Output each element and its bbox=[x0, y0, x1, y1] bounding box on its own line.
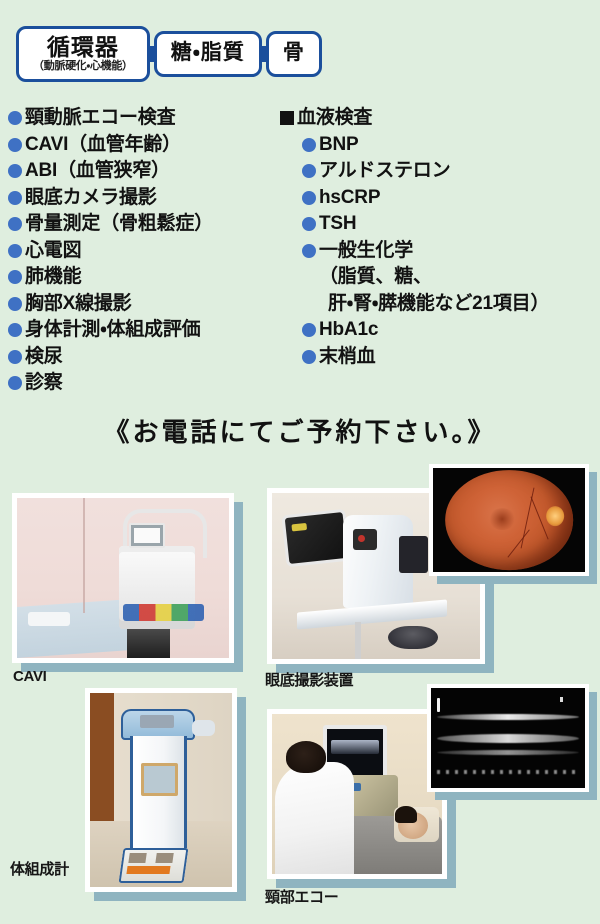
list-item: TSH bbox=[302, 214, 590, 233]
bullet-circle-icon bbox=[302, 217, 316, 231]
list-item-label: 末梢血 bbox=[319, 347, 375, 366]
exam-lists: 頸動脈エコー検査 CAVI（血管年齢） ABI（血管狭窄） 眼底カメラ撮影 骨量… bbox=[8, 108, 592, 400]
tab-sugar-lipid-label: 糖・脂質 bbox=[171, 42, 245, 64]
list-item-label: ABI（血管狭窄） bbox=[25, 161, 170, 180]
bullet-circle-icon bbox=[8, 191, 22, 205]
list-item-label: 骨量測定（骨粗鬆症） bbox=[25, 214, 213, 233]
bullet-circle-icon bbox=[8, 270, 22, 284]
bullet-circle-icon bbox=[302, 191, 316, 205]
fundus-monitor bbox=[284, 512, 347, 564]
ultrasound-depth-marker bbox=[560, 697, 563, 702]
left-exam-column: 頸動脈エコー検査 CAVI（血管年齢） ABI（血管狭窄） 眼底カメラ撮影 骨量… bbox=[8, 108, 280, 400]
body-composition-caption: 体組成計 bbox=[10, 858, 69, 879]
list-item: 身体計測・体組成評価 bbox=[8, 320, 280, 339]
ultrasound-scale-bar bbox=[437, 770, 579, 774]
cavi-caption: CAVI bbox=[13, 668, 47, 685]
fundus-chinrest bbox=[399, 536, 428, 573]
exam-bed-pillow bbox=[28, 612, 70, 626]
list-item-continuation: （脂質、糖、 bbox=[319, 267, 590, 286]
list-item: HbA1c bbox=[302, 320, 590, 339]
retina-scene bbox=[433, 468, 585, 572]
list-item-label: 頸動脈エコー検査 bbox=[25, 108, 175, 127]
bullet-circle-icon bbox=[8, 376, 22, 390]
carotid-echo-image bbox=[272, 714, 442, 874]
list-item-label: 検尿 bbox=[25, 347, 63, 366]
list-item: 検尿 bbox=[8, 347, 280, 366]
carotid-echo-scan-photo bbox=[427, 684, 589, 792]
list-item: CAVI（血管年齢） bbox=[8, 135, 280, 154]
cavi-machine-photo bbox=[12, 493, 234, 663]
ultrasound-depth-marker bbox=[437, 698, 440, 712]
list-item-label: 診察 bbox=[25, 373, 63, 392]
bullet-circle-icon bbox=[8, 297, 22, 311]
list-item-label: 一般生化学 bbox=[319, 241, 413, 260]
carotid-echo-photo bbox=[267, 709, 447, 879]
carotid-echo-caption: 頸部エコー bbox=[265, 886, 339, 907]
patient-head bbox=[398, 812, 429, 839]
list-item-label: 肺機能 bbox=[25, 267, 81, 286]
bullet-circle-icon bbox=[8, 323, 22, 337]
list-item-continuation: 肝・腎・膵機能など21項目） bbox=[328, 294, 590, 313]
list-item-label: BNP bbox=[319, 135, 359, 154]
bullet-circle-icon bbox=[302, 138, 316, 152]
list-item: 骨量測定（骨粗鬆症） bbox=[8, 214, 280, 233]
doctor-figure bbox=[275, 762, 353, 874]
list-item: 肺機能 bbox=[8, 267, 280, 286]
list-item-label: TSH bbox=[319, 214, 356, 233]
ultrasound-vessel-wall bbox=[437, 714, 579, 720]
list-item-label: hsCRP bbox=[319, 188, 380, 207]
fundus-image-photo bbox=[429, 464, 589, 576]
list-item-label: HbA1c bbox=[319, 320, 378, 339]
list-item: 頸動脈エコー検査 bbox=[8, 108, 280, 127]
right-exam-column: 血液検査 BNP アルドステロン hsCRP TSH 一般生化学 （脂質、糖、 … bbox=[280, 108, 590, 373]
analyzer-hand-grip bbox=[192, 720, 215, 736]
echo-room-scene bbox=[272, 714, 442, 874]
bullet-circle-icon bbox=[8, 350, 22, 364]
bullet-circle-icon bbox=[302, 350, 316, 364]
list-item: 心電図 bbox=[8, 241, 280, 260]
fundus-retina-image bbox=[433, 468, 585, 572]
list-item-label: 胸部X線撮影 bbox=[25, 294, 131, 313]
list-item: 一般生化学 bbox=[302, 241, 590, 260]
tab-bone-label: 骨 bbox=[283, 42, 305, 64]
body-composition-image bbox=[90, 693, 232, 887]
list-item: 眼底カメラ撮影 bbox=[8, 188, 280, 207]
cavi-room-scene bbox=[17, 498, 229, 658]
list-item-label: 眼底カメラ撮影 bbox=[25, 188, 157, 207]
tab-circulatory-label: 循環器 bbox=[47, 35, 119, 59]
fundus-table-leg bbox=[355, 622, 361, 659]
tab-sugar-lipid[interactable]: 糖・脂質 bbox=[154, 31, 262, 77]
reservation-notice: 《お電話にてご予約下さい。》 bbox=[0, 412, 600, 449]
carotid-echo-scan-image bbox=[431, 688, 585, 788]
bullet-circle-icon bbox=[302, 244, 316, 258]
bullet-circle-icon bbox=[8, 164, 22, 178]
blood-test-heading-label: 血液検査 bbox=[297, 108, 372, 127]
list-item: 胸部X線撮影 bbox=[8, 294, 280, 313]
list-item: 末梢血 bbox=[302, 347, 590, 366]
bullet-circle-icon bbox=[8, 217, 22, 231]
analyzer-screen bbox=[141, 763, 178, 796]
list-item-label: 心電図 bbox=[25, 241, 81, 260]
analyzer-accent-stripe bbox=[126, 866, 170, 874]
bullet-circle-icon bbox=[302, 164, 316, 178]
list-item-label: アルドステロン bbox=[319, 161, 450, 180]
category-tabs: 循環器 （動脈硬化・心機能） 糖・脂質 骨 bbox=[16, 26, 322, 82]
body-composition-scene bbox=[90, 693, 232, 887]
list-item: 診察 bbox=[8, 373, 280, 392]
cavi-machine-image bbox=[17, 498, 229, 658]
cavi-cuff-set bbox=[123, 604, 204, 622]
bullet-circle-icon bbox=[8, 244, 22, 258]
list-item-label: CAVI（血管年齢） bbox=[25, 135, 181, 154]
ultrasound-vessel-wall bbox=[437, 734, 579, 743]
bullet-circle-icon bbox=[8, 138, 22, 152]
photo-gallery: CAVI 眼底撮影装置 bbox=[0, 466, 600, 924]
list-item: BNP bbox=[302, 135, 590, 154]
tab-circulatory[interactable]: 循環器 （動脈硬化・心機能） bbox=[16, 26, 150, 82]
tab-bone[interactable]: 骨 bbox=[266, 31, 322, 77]
bullet-circle-icon bbox=[8, 111, 22, 125]
list-item: アルドステロン bbox=[302, 161, 590, 180]
cavi-wheel-base bbox=[127, 629, 169, 658]
blood-test-heading: 血液検査 bbox=[280, 108, 590, 127]
bullet-square-icon bbox=[280, 111, 294, 125]
exam-stool bbox=[388, 626, 438, 649]
list-item-label: 身体計測・体組成評価 bbox=[25, 320, 200, 339]
body-composition-photo bbox=[85, 688, 237, 892]
doctor-head bbox=[286, 741, 327, 773]
list-item: hsCRP bbox=[302, 188, 590, 207]
ultrasound-scene bbox=[431, 688, 585, 788]
tab-circulatory-sublabel: （動脈硬化・心機能） bbox=[33, 60, 133, 72]
bullet-circle-icon bbox=[302, 323, 316, 337]
ultrasound-vessel-wall bbox=[437, 750, 579, 755]
fundus-camera-caption: 眼底撮影装置 bbox=[265, 669, 353, 690]
list-item: ABI（血管狭窄） bbox=[8, 161, 280, 180]
